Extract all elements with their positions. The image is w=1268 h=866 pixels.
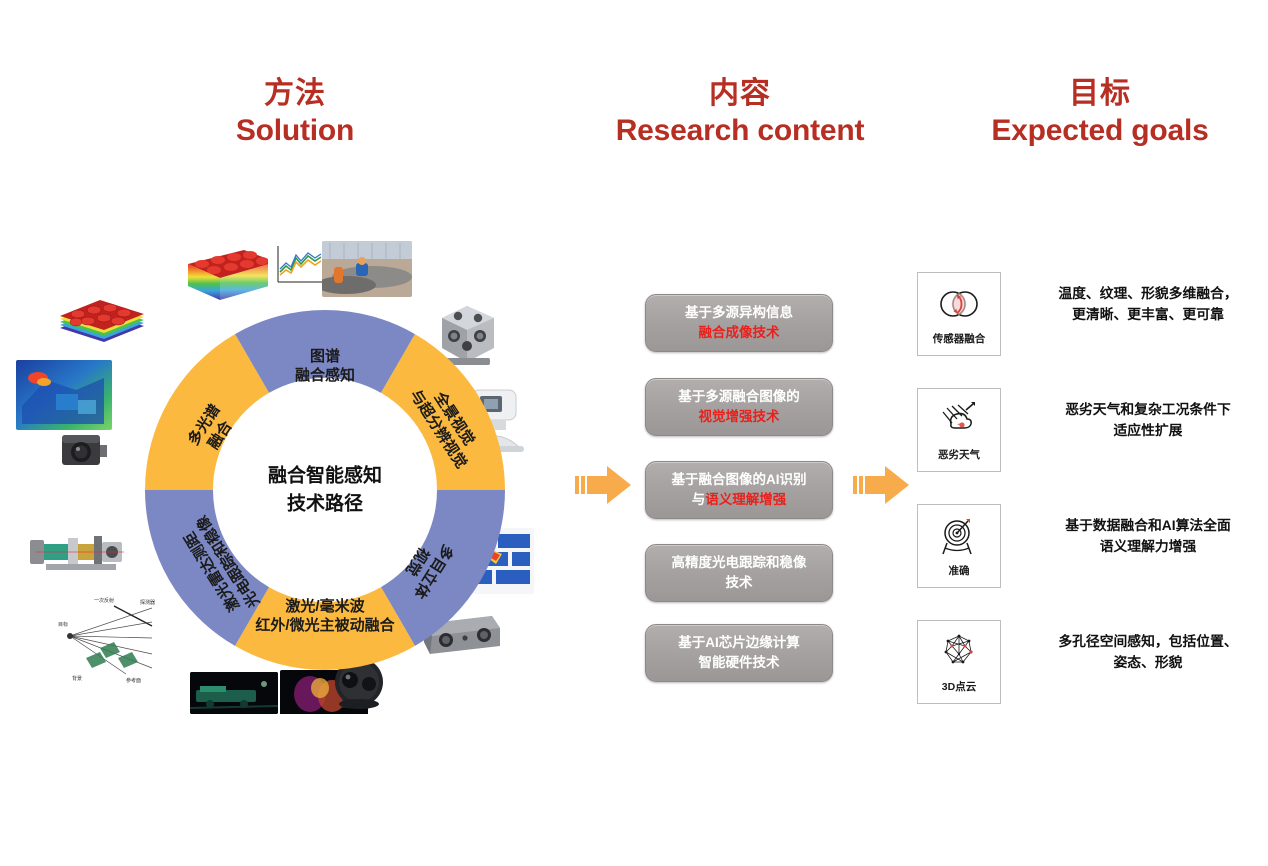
svg-text:背景: 背景	[72, 675, 82, 682]
donut-center-label: 融合智能感知 技术路径	[268, 462, 382, 517]
spectral-curve-plot	[268, 240, 326, 294]
goal-card-point-cloud[interactable]: 3D点云	[917, 620, 1001, 704]
thermal-infrared-machinery	[16, 360, 112, 430]
research-pill-5-line2: 智能硬件技术	[678, 653, 800, 673]
multispectral-stack-strawberries	[56, 300, 148, 350]
technology-roadmap-donut: 图谱 融合感知 全景视觉 与超分辨视觉 多目立体 视觉 激光/毫米波 红外/微光…	[140, 305, 510, 675]
goal-text-point-cloud-line1: 多孔径空间感知，包括位置、	[1032, 632, 1264, 653]
donut-center-line1: 融合智能感知	[268, 462, 382, 490]
donut-segment-bottom[interactable]	[235, 587, 415, 670]
svg-text:一次反射: 一次反射	[94, 597, 114, 604]
goal-row-bad-weather: 恶劣天气 恶劣天气和复杂工况条件下 适应性扩展	[917, 388, 1262, 492]
research-pill-4-line2: 技术	[672, 573, 807, 593]
bad-weather-icon	[935, 398, 983, 442]
header-solution-en: Solution	[175, 113, 415, 150]
goal-card-accuracy[interactable]: 准确	[917, 504, 1001, 588]
research-pill-5-line1: 基于AI芯片边缘计算	[678, 633, 800, 653]
research-pill-3-line2-prefix: 与	[692, 492, 706, 507]
donut-center-line2: 技术路径	[268, 490, 382, 518]
goal-text-point-cloud: 多孔径空间感知，包括位置、 姿态、形貌	[1032, 632, 1264, 673]
goal-text-accuracy-line2: 语义理解力增强	[1032, 537, 1264, 558]
research-pill-2[interactable]: 基于多源融合图像的 视觉增强技术	[645, 378, 833, 436]
optical-bench-laser-module	[28, 518, 132, 580]
column-header-research-content: 内容 Research content	[575, 76, 905, 149]
goal-row-accuracy: 准确 基于数据融合和AI算法全面 语义理解力增强	[917, 504, 1262, 608]
goal-card-sensor-fusion[interactable]: 传感器融合	[917, 272, 1001, 356]
night-vision-frame-a	[190, 672, 278, 714]
research-pill-2-line1: 基于多源融合图像的	[678, 387, 800, 407]
sensor-fusion-icon	[935, 282, 983, 326]
goal-row-sensor-fusion: 传感器融合 温度、纹理、形貌多维融合， 更清晰、更丰富、更可靠	[917, 272, 1262, 376]
goal-text-sensor-fusion-line1: 温度、纹理、形貌多维融合，	[1032, 284, 1264, 305]
goal-text-sensor-fusion: 温度、纹理、形貌多维融合， 更清晰、更丰富、更可靠	[1032, 284, 1264, 325]
hyperspectral-cube-strawberries	[184, 242, 280, 304]
header-content-cn: 内容	[575, 76, 905, 113]
research-pill-2-line2: 视觉增强技术	[678, 407, 800, 427]
research-pill-3-line1: 基于融合图像的AI识别	[672, 470, 807, 490]
column-header-solution: 方法 Solution	[175, 76, 415, 149]
header-solution-cn: 方法	[175, 76, 415, 113]
donut-segment-top[interactable]	[235, 310, 415, 393]
goal-text-point-cloud-line2: 姿态、形貌	[1032, 653, 1264, 674]
research-pill-3[interactable]: 基于融合图像的AI识别 与语义理解增强	[645, 461, 833, 519]
goal-row-point-cloud: 3D点云 多孔径空间感知，包括位置、 姿态、形貌	[917, 620, 1262, 724]
goal-caption-accuracy: 准确	[949, 563, 970, 578]
research-pill-1-line1: 基于多源异构信息	[685, 303, 793, 323]
arrow-content-to-goals	[853, 460, 911, 510]
goal-caption-sensor-fusion: 传感器融合	[933, 331, 986, 346]
header-content-en: Research content	[575, 113, 905, 150]
header-goals-en: Expected goals	[935, 113, 1265, 150]
point-cloud-icon	[935, 630, 983, 674]
goal-text-accuracy: 基于数据融合和AI算法全面 语义理解力增强	[1032, 516, 1264, 557]
goal-text-bad-weather-line1: 恶劣天气和复杂工况条件下	[1032, 400, 1264, 421]
research-pill-1[interactable]: 基于多源异构信息 融合成像技术	[645, 294, 833, 352]
goal-text-bad-weather: 恶劣天气和复杂工况条件下 适应性扩展	[1032, 400, 1264, 441]
goal-text-accuracy-line1: 基于数据融合和AI算法全面	[1032, 516, 1264, 537]
goal-text-sensor-fusion-line2: 更清晰、更丰富、更可靠	[1032, 305, 1264, 326]
goal-caption-bad-weather: 恶劣天气	[938, 447, 980, 462]
pipeline-inspection-photo	[322, 241, 412, 297]
header-goals-cn: 目标	[935, 76, 1265, 113]
infrared-camera-module	[56, 425, 112, 473]
goal-caption-point-cloud: 3D点云	[942, 679, 976, 694]
target-accuracy-icon	[935, 514, 983, 558]
research-pill-4[interactable]: 高精度光电跟踪和稳像 技术	[645, 544, 833, 602]
svg-text:参考面: 参考面	[126, 677, 141, 684]
column-header-expected-goals: 目标 Expected goals	[935, 76, 1265, 149]
research-pill-5[interactable]: 基于AI芯片边缘计算 智能硬件技术	[645, 624, 833, 682]
research-pill-1-line2: 融合成像技术	[685, 323, 793, 343]
research-pill-4-line1: 高精度光电跟踪和稳像	[672, 553, 807, 573]
arrow-solution-to-content	[575, 460, 633, 510]
goal-text-bad-weather-line2: 适应性扩展	[1032, 421, 1264, 442]
research-pill-3-line2-highlight: 语义理解增强	[705, 492, 786, 507]
goal-card-bad-weather[interactable]: 恶劣天气	[917, 388, 1001, 472]
svg-text:目标: 目标	[58, 621, 68, 628]
